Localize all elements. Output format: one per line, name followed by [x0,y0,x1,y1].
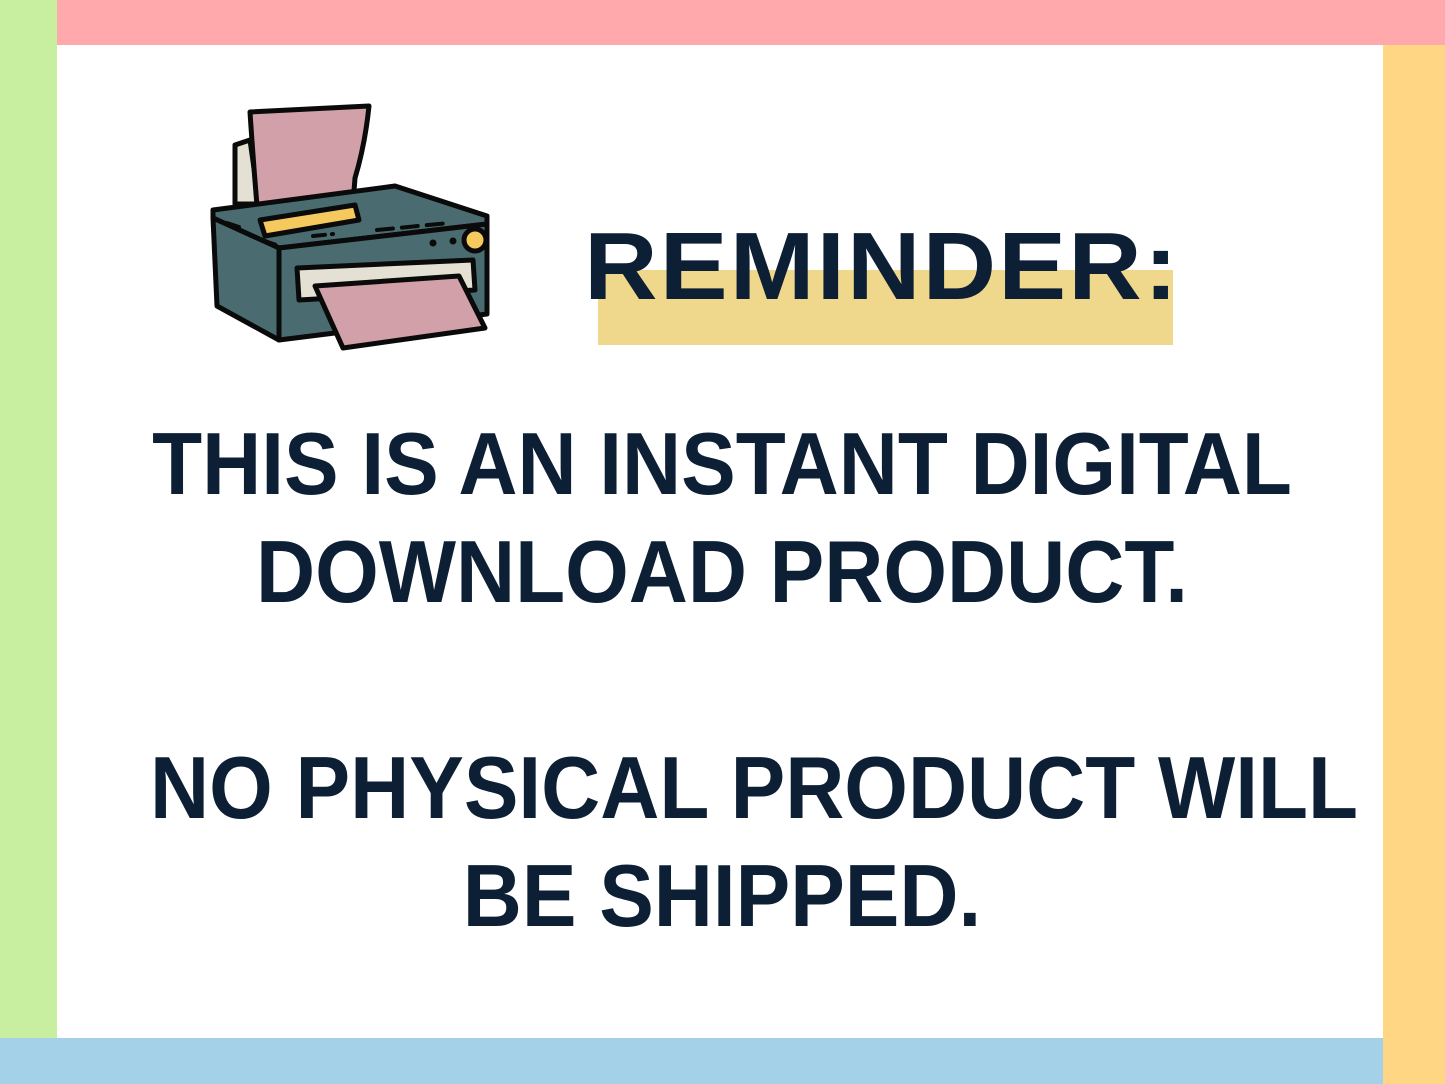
page-title: REMINDER: [569,215,1194,319]
heading-block: REMINDER: [587,215,1177,355]
body-line-spacer [107,626,1337,734]
border-bar-bottom-blue [0,1038,1383,1084]
card-content: REMINDER: THIS IS AN INSTANT DIGITAL DOW… [57,45,1383,1038]
border-bar-right-yellow [1383,45,1445,1084]
printer-icon [187,100,527,375]
body-line-1: THIS IS AN INSTANT DIGITAL [150,410,1294,518]
body-line-4: BE SHIPPED. [150,842,1294,950]
border-bar-left-green [0,0,57,1038]
body-line-2: DOWNLOAD PRODUCT. [150,518,1294,626]
border-bar-top-pink [57,0,1445,45]
body-copy: THIS IS AN INSTANT DIGITAL DOWNLOAD PROD… [107,410,1337,950]
body-line-3: NO PHYSICAL PRODUCT WILL [150,734,1294,842]
reminder-card: REMINDER: THIS IS AN INSTANT DIGITAL DOW… [0,0,1445,1084]
